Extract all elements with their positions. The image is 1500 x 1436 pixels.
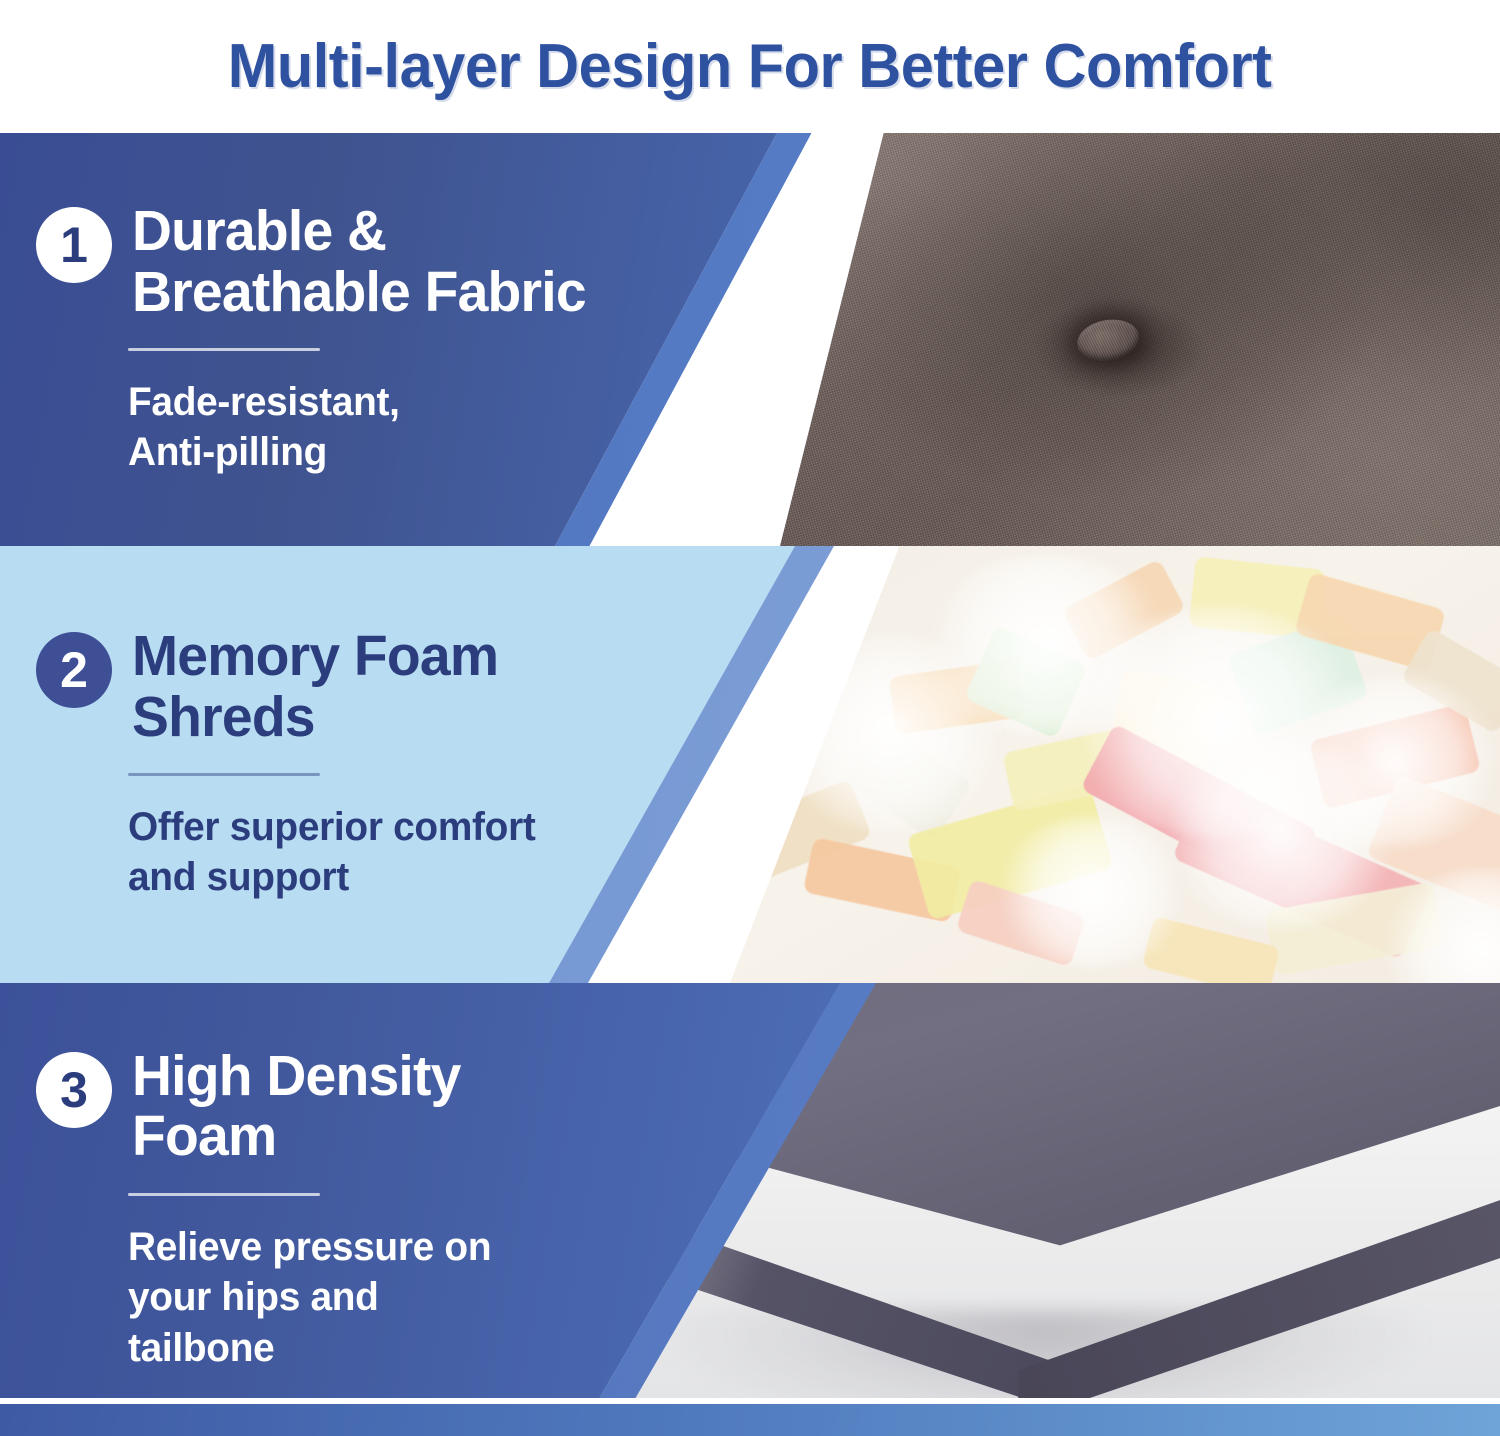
panel-2-subtext: Offer superior comfort and support xyxy=(128,802,660,903)
foam-shreds-photo xyxy=(730,546,1500,983)
panel-3-heading-line-2: Foam xyxy=(132,1106,461,1166)
tufted-button-icon xyxy=(1074,314,1142,364)
panel-3-subtext-line-1: Relieve pressure on xyxy=(128,1222,660,1272)
bottom-accent-band xyxy=(0,1404,1500,1436)
fiber-fill xyxy=(776,633,1006,833)
panel-3-divider xyxy=(128,1193,320,1196)
panel-3-subtext-line-3: tailbone xyxy=(128,1323,660,1373)
step-badge-1: 1 xyxy=(36,207,112,283)
panel-3-heading: High Density Foam xyxy=(132,1046,461,1167)
page-title: Multi-layer Design For Better Comfort xyxy=(228,36,1272,98)
step-badge-3: 3 xyxy=(36,1052,112,1128)
panel-2-heading: Memory Foam Shreds xyxy=(132,626,498,747)
panel-2-content: 2 Memory Foam Shreds Offer superior comf… xyxy=(36,546,676,983)
panel-3-subtext: Relieve pressure on your hips and tailbo… xyxy=(128,1222,660,1373)
panel-3-subtext-line-2: your hips and xyxy=(128,1272,660,1322)
feature-panel-1: 1 Durable & Breathable Fabric Fade-resis… xyxy=(0,133,1500,546)
panel-1-content: 1 Durable & Breathable Fabric Fade-resis… xyxy=(36,133,676,546)
panel-2-heading-line-2: Shreds xyxy=(132,687,498,747)
panel-1-heading-line-2: Breathable Fabric xyxy=(132,262,586,322)
panel-1-heading: Durable & Breathable Fabric xyxy=(132,201,586,322)
feature-panel-2: 2 Memory Foam Shreds Offer superior comf… xyxy=(0,546,1500,983)
header: Multi-layer Design For Better Comfort xyxy=(0,0,1500,133)
fabric-photo xyxy=(780,133,1500,546)
panel-1-subtext: Fade-resistant, Anti-pilling xyxy=(128,377,660,478)
feature-panel-3: 3 High Density Foam Relieve pressure on … xyxy=(0,983,1500,1436)
step-badge-2: 2 xyxy=(36,632,112,708)
panel-3-heading-row: 3 High Density Foam xyxy=(36,1046,676,1167)
foam-shreds-texture xyxy=(730,546,1500,983)
panel-3-heading-line-1: High Density xyxy=(132,1046,461,1106)
infographic-root: Multi-layer Design For Better Comfort 1 … xyxy=(0,0,1500,1436)
panel-1-subtext-line-2: Anti-pilling xyxy=(128,427,660,477)
panel-2-subtext-line-1: Offer superior comfort xyxy=(128,802,660,852)
panel-1-subtext-line-1: Fade-resistant, xyxy=(128,377,660,427)
panel-2-subtext-line-2: and support xyxy=(128,852,660,902)
panel-1-heading-row: 1 Durable & Breathable Fabric xyxy=(36,201,676,322)
panel-3-content: 3 High Density Foam Relieve pressure on … xyxy=(36,983,676,1436)
panel-1-divider xyxy=(128,348,320,351)
panel-2-heading-row: 2 Memory Foam Shreds xyxy=(36,626,676,747)
fiber-fill xyxy=(1284,677,1500,847)
panel-2-heading-line-1: Memory Foam xyxy=(132,626,498,686)
fiber-fill xyxy=(992,817,1192,967)
panel-1-heading-line-1: Durable & xyxy=(132,201,586,261)
fabric-texture xyxy=(780,133,1500,546)
panel-2-divider xyxy=(128,773,320,776)
